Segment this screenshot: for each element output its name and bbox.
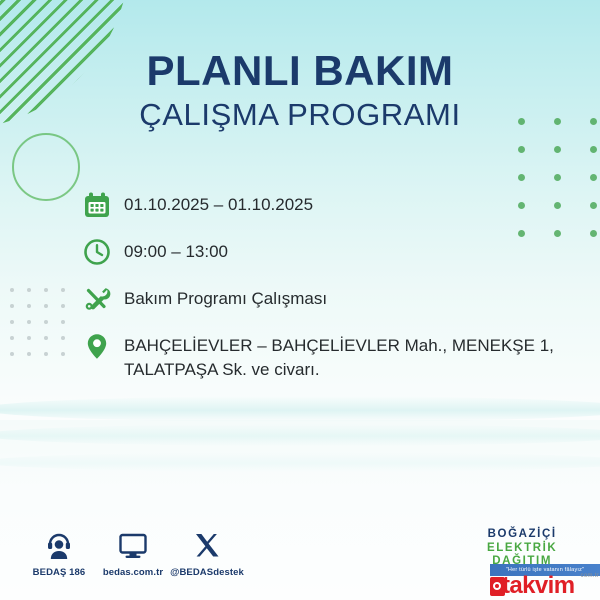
decoration-dot [61,336,65,340]
turkish-flag-icon [490,577,505,596]
footer-label-phone: BEDAŞ 186 [33,567,86,578]
wave-divider-2 [0,424,600,446]
info-row-date-text: 01.10.2025 – 01.10.2025 [124,188,313,217]
decoration-dot [61,320,65,324]
calendar-icon [80,188,114,222]
title-line-2: ÇALIŞMA PROGRAMI [0,99,600,132]
footer-label-twitter: @BEDASdestek [170,567,244,578]
footer-item-website[interactable]: bedas.com.tr [96,528,170,578]
decoration-dot [590,146,597,153]
decoration-dot [44,288,48,292]
decoration-dot [27,336,31,340]
decoration-dot [10,288,14,292]
monitor-icon [118,528,148,560]
takvim-watermark: "Her türlü işte vatanın fâlayız" takvim … [490,562,600,600]
circle-outline-decoration [12,133,80,201]
decoration-dot [590,174,597,181]
location-pin-icon [80,329,114,363]
info-row-time-text: 09:00 – 13:00 [124,235,228,264]
decoration-dot [518,146,525,153]
info-row-worktype-text: Bakım Programı Çalışması [124,282,327,311]
clock-icon [80,235,114,269]
tools-icon [80,282,114,316]
decoration-dot [27,304,31,308]
brand-line-1: BOĞAZİÇİ [487,528,557,542]
decoration-dot [554,174,561,181]
info-row-date: 01.10.2025 – 01.10.2025 [80,188,580,222]
decoration-dot [44,336,48,340]
x-twitter-icon [192,528,222,560]
title-line-1: PLANLI BAKIM [0,50,600,93]
footer-item-phone[interactable]: BEDAŞ 186 [22,528,96,578]
decoration-dot [590,230,597,237]
decoration-dot [44,304,48,308]
decoration-dot [10,352,14,356]
footer-contact-bar: BEDAŞ 186 bedas.com.tr @BEDASdestek [22,528,244,578]
page-title: PLANLI BAKIM ÇALIŞMA PROGRAMI [0,50,600,131]
decoration-dot [27,288,31,292]
decoration-dot [10,320,14,324]
decoration-dot [44,320,48,324]
decoration-dot [518,174,525,181]
watermark-suffix: com.tr [581,573,599,579]
wave-divider-1 [0,396,600,422]
footer-item-twitter[interactable]: @BEDASdestek [170,528,244,578]
decoration-dot [10,336,14,340]
decoration-dot [61,288,65,292]
wave-divider-3 [0,452,600,472]
decoration-dot [27,320,31,324]
brand-line-2: ELEKTRİK [487,542,557,556]
info-row-location: BAHÇELİEVLER – BAHÇELİEVLER Mah., MENEKŞ… [80,329,580,382]
decoration-dot [590,202,597,209]
decoration-dot [61,352,65,356]
info-row-time: 09:00 – 13:00 [80,235,580,269]
headset-support-icon [44,528,74,560]
watermark-text: takvim [502,572,574,600]
info-row-worktype: Bakım Programı Çalışması [80,282,580,316]
footer-label-website: bedas.com.tr [103,567,163,578]
info-row-location-text: BAHÇELİEVLER – BAHÇELİEVLER Mah., MENEKŞ… [124,329,574,382]
dot-grid-left-decoration [10,288,78,368]
info-list: 01.10.2025 – 01.10.2025 09:00 – 13:00 [80,188,580,395]
decoration-dot [44,352,48,356]
decoration-dot [27,352,31,356]
poster-canvas: PLANLI BAKIM ÇALIŞMA PROGRAMI [0,0,600,600]
decoration-dot [61,304,65,308]
decoration-dot [554,146,561,153]
decoration-dot [10,304,14,308]
